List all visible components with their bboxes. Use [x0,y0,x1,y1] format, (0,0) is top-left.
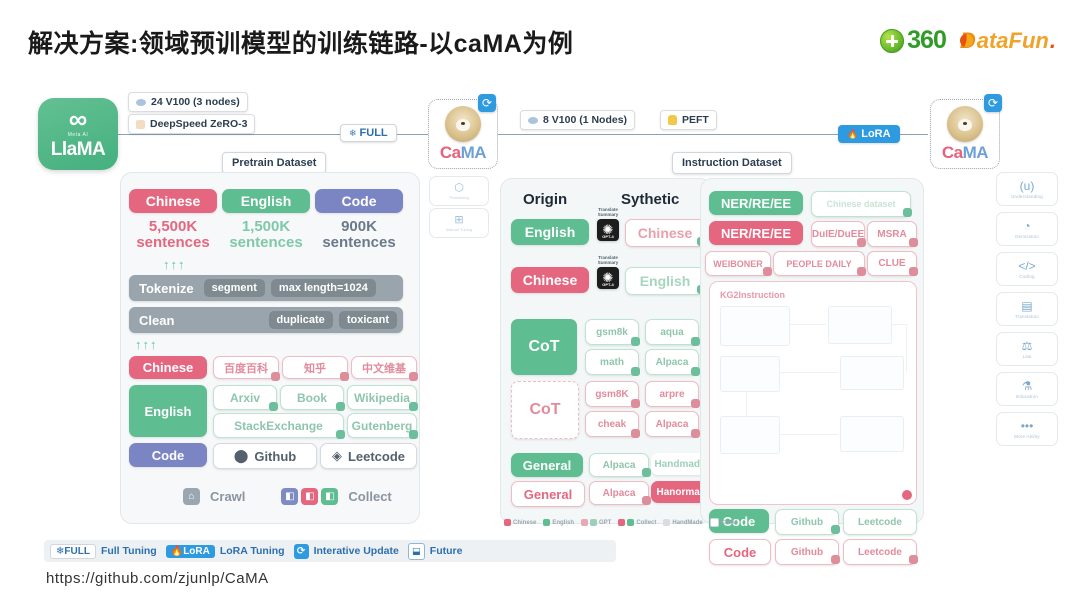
ie-code-github-1[interactable]: Github [775,509,839,535]
legend-collect: Collect [618,519,656,526]
cot-tag-1[interactable]: CoT [511,319,577,375]
flow-arrows-up-2: ↑↑↑ [135,337,158,352]
collect-dot [336,402,345,411]
source-chinese-2[interactable]: 知乎 [282,356,348,379]
general-item-alpaca-1[interactable]: Alpaca [589,453,649,477]
instruct-tuning-icon: ⊞ [454,215,463,226]
mid-box-pretraining[interactable]: ⬡ Pretraining [429,176,489,206]
ie-code-leetcode-2[interactable]: Leetcode [843,539,917,565]
connector-cama-lora [498,134,838,135]
kg2instruction-title: KG2Instruction [720,290,785,300]
tuning-legend-bar: ❄FULL Full Tuning 🔥LoRA LoRA Tuning ⟳ In… [44,540,616,562]
source-chinese-1[interactable]: 百度百科 [213,356,279,379]
source-english-3[interactable]: Wikipedia [347,385,417,410]
source-dot [857,267,866,276]
legend-gpt: GPT [581,519,611,526]
source-dot [631,337,640,346]
ability-education[interactable]: ⚗ Education [996,372,1058,406]
education-icon: ⚗ [1022,380,1033,392]
origin-lang-english[interactable]: English [511,219,589,245]
full-tuning-badge[interactable]: ❄ FULL [340,124,397,142]
ie-tag-green[interactable]: NER/RE/EE [709,191,803,215]
source-chinese-3[interactable]: 中文维基 [351,356,417,379]
kg-node [720,356,780,392]
deepspeed-icon [136,120,145,129]
legend-interative-update[interactable]: ⟳ Interative Update [294,544,399,559]
source-code-github[interactable]: ⬤ Github [213,443,317,469]
source-dot [631,367,640,376]
source-dot [909,238,918,247]
ability-translation[interactable]: ▤ Translation [996,292,1058,326]
collect-dot [409,402,418,411]
pretrain-gpu-chip: 24 V100 (3 nodes) [128,92,248,112]
legend-crawl: Crawl [710,518,737,527]
source-english-1[interactable]: Arxiv [213,385,277,410]
kg-node [840,356,904,390]
scales-icon: ⚖ [1022,340,1033,352]
legend-handmade: HandMade [663,519,702,526]
datafun-dot-icon [960,34,973,47]
source-group-english[interactable]: English [129,385,207,437]
source-dot [763,267,772,276]
future-icon: ⬓ [408,543,425,560]
source-dot [902,490,912,500]
brand-logos: 360 D ataFun . [880,26,1056,55]
crawl-collect-legend: ⌂ Crawl ◧ ◧ ◧ Collect [183,488,392,505]
full-badge-icon: ❄FULL [50,544,96,559]
instruction-origin-panel: Origin Sythetic English ✺ Translate Summ… [500,178,712,524]
legend-full-tuning[interactable]: ❄FULL Full Tuning [50,544,157,559]
source-dot [642,496,651,505]
llama-model-node[interactable]: ∞ Meta AI LlaMA [38,98,118,170]
legend-english: English [543,519,574,526]
source-english-5[interactable]: Gutenberg [347,413,417,438]
source-dot [631,429,640,438]
source-dot [831,525,840,534]
logo-datafun: D ataFun . [960,28,1056,54]
collect-dot [409,430,418,439]
cama-label-2: CaMA [942,143,988,163]
generation-icon: ◔ [1023,220,1030,232]
gpu-icon [528,117,538,124]
column-header-synthetic: Sythetic [621,191,679,208]
source-dot [909,267,918,276]
ie-code-leetcode-1[interactable]: Leetcode [843,509,917,535]
source-dot [903,208,912,217]
legend-future[interactable]: ⬓ Future [408,543,463,560]
ie-item-chinese-dataset[interactable]: Chinese dataset [811,191,911,217]
kg-node [828,306,892,344]
ability-law[interactable]: ⚖ Law [996,332,1058,366]
snowflake-icon: ❄ [349,128,357,139]
ie-code-github-2[interactable]: Github [775,539,839,565]
github-url[interactable]: https://github.com/zjunlp/CaMA [46,570,269,587]
flow-arrows-up-1: ↑↑↑ [163,257,186,272]
source-dot [691,337,700,346]
ellipsis-icon: ••• [1021,420,1034,432]
instruct-gpu-chip: 8 V100 (1 Nodes) [520,110,635,130]
collect-icon-red: ◧ [301,488,318,505]
collect-dot [271,372,280,381]
lora-badge-icon: 🔥LoRA [166,545,215,558]
kg-node [840,416,904,452]
logo-360: 360 [880,26,946,55]
lang-tag-english[interactable]: English [222,189,310,213]
github-icon: ⬤ [234,448,249,464]
source-english-2[interactable]: Book [280,385,344,410]
count-code: 900Ksentences [315,219,403,251]
pipeline-row-clean[interactable]: Clean duplicate toxicant [129,307,403,333]
ability-more[interactable]: ••• More Ability [996,412,1058,446]
lang-tag-chinese[interactable]: Chinese [129,189,217,213]
source-group-chinese[interactable]: Chinese [129,356,207,379]
ie-code-tag-red[interactable]: Code [709,539,771,565]
leetcode-icon: ◈ [332,448,342,464]
ie-item-people-daily[interactable]: PEOPLE DAILY [773,251,865,276]
synthetic-lang-english[interactable]: English [625,267,705,295]
pretraining-icon: ⬡ [454,183,464,194]
general-item-alpaca-2[interactable]: Alpaca [589,481,649,505]
synthetic-lang-chinese[interactable]: Chinese [625,219,705,247]
lora-tuning-badge[interactable]: 🔥 LoRA [838,125,900,143]
general-tag-1[interactable]: General [511,453,583,477]
collect-icon-blue: ◧ [281,488,298,505]
legend-lora-tuning[interactable]: 🔥LoRA LoRA Tuning [166,545,285,558]
peft-chip: PEFT [660,110,717,130]
instruction-dataset-label: Instruction Dataset [672,152,792,174]
column-header-origin: Origin [523,191,567,208]
alpaca-avatar [947,106,983,142]
collect-icons: ◧ ◧ ◧ [281,488,338,505]
ability-icon-rail: (u) Understanding ◔ Generation </> Codin… [996,172,1058,446]
pretrain-data-panel: Chinese English Code 5,500Ksentences 1,5… [120,172,420,524]
collect-dot [340,372,349,381]
pretrain-framework-chip: DeepSpeed ZeRO-3 [128,114,255,134]
crawl-icon: ⌂ [183,488,200,505]
collect-icon-green: ◧ [321,488,338,505]
collect-dot [269,402,278,411]
key-icon [668,115,677,125]
sync-icon-1[interactable]: ⟳ [478,94,496,112]
pipeline-row-tokenize[interactable]: Tokenize segment max length=1024 [129,275,403,301]
translation-icon: ▤ [1021,300,1032,312]
general-tag-2[interactable]: General [511,481,585,507]
lang-tag-code[interactable]: Code [315,189,403,213]
source-dot [691,367,700,376]
understanding-icon: (u) [1020,180,1035,192]
ie-data-panel: NER/RE/EE Chinese dataset NER/RE/EE DuIE… [700,178,924,524]
diagram-canvas: ∞ Meta AI LlaMA 24 V100 (3 nodes) DeepSp… [0,72,1080,542]
legend-chinese: Chinese [504,519,536,526]
origin-lang-chinese[interactable]: Chinese [511,267,589,293]
count-english: 1,500Ksentences [222,219,310,251]
code-icon: </> [1018,260,1035,272]
ability-generation[interactable]: ◔ Generation [996,212,1058,246]
cot-tag-2[interactable]: CoT [511,381,579,439]
shield-icon [880,29,904,53]
sync-icon-2[interactable]: ⟳ [984,94,1002,112]
ie-tag-red[interactable]: NER/RE/EE [709,221,803,245]
source-english-4[interactable]: StackExchange [213,413,344,438]
pretrain-dataset-label: Pretrain Dataset [222,152,326,174]
source-dot [831,555,840,564]
collect-dot [336,430,345,439]
mid-box-instruct-tuning[interactable]: ⊞ Instruct Tuning [429,208,489,238]
flame-icon: 🔥 [847,129,858,140]
cama-label-1: CaMA [440,143,486,163]
meta-infinity-icon: ∞ [69,109,88,130]
collect-dot [409,372,418,381]
kg-node [720,306,790,346]
ability-understanding[interactable]: (u) Understanding [996,172,1058,206]
kg-node [720,416,780,454]
page-title: 解决方案:领域预训模型的训练链路-以caMA为例 [28,24,573,60]
source-group-code[interactable]: Code [129,443,207,467]
ability-coding[interactable]: </> Coding [996,252,1058,286]
source-dot [691,399,700,408]
sync-icon: ⟳ [294,544,309,559]
count-chinese: 5,500Ksentences [129,219,217,251]
gpu-icon [136,99,146,106]
source-code-leetcode[interactable]: ◈ Leetcode [320,443,417,469]
ie-item-weiboner[interactable]: WEIBONER [705,251,771,276]
source-type-legend: Chinese English GPT Collect HandMade Cra… [504,518,737,527]
source-dot [857,238,866,247]
kg2instruction-panel[interactable]: KG2Instruction [709,281,917,505]
source-dot [909,555,918,564]
source-dot [642,468,651,477]
source-dot [631,399,640,408]
source-dot [691,429,700,438]
alpaca-avatar [445,106,481,142]
